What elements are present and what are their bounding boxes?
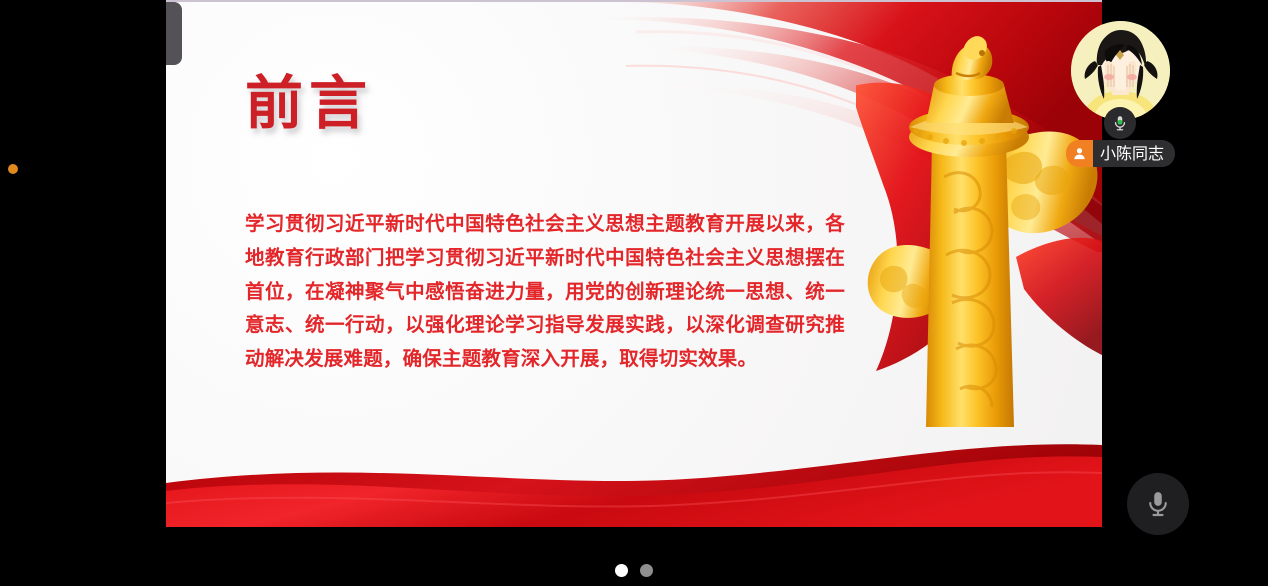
slide-body-text: 学习贯彻习近平新时代中国特色社会主义思想主题教育开展以来，各地教育行政部门把学习… xyxy=(245,207,845,376)
person-icon xyxy=(1066,140,1093,167)
avatar-mic-status-icon xyxy=(1104,107,1136,139)
left-status-dot xyxy=(8,164,18,174)
page-dot-2[interactable] xyxy=(640,564,653,577)
app-stage: 前言 学习贯彻习近平新时代中国特色社会主义思想主题教育开展以来，各地教育行政部门… xyxy=(0,0,1268,586)
presenter-name-badge: 小陈同志 xyxy=(1066,140,1175,167)
microphone-button[interactable] xyxy=(1127,473,1189,535)
pagination-dots[interactable] xyxy=(0,564,1268,577)
presentation-slide[interactable]: 前言 学习贯彻习近平新时代中国特色社会主义思想主题教育开展以来，各地教育行政部门… xyxy=(166,0,1102,527)
drawer-handle[interactable] xyxy=(166,2,182,65)
avatar xyxy=(1071,21,1170,120)
presenter-name: 小陈同志 xyxy=(1093,140,1175,167)
microphone-icon xyxy=(1143,489,1173,519)
presenter-video-tile[interactable] xyxy=(1071,21,1170,120)
slide-title: 前言 xyxy=(245,74,373,132)
page-dot-1[interactable] xyxy=(615,564,628,577)
red-ribbon-wave xyxy=(166,417,1102,527)
